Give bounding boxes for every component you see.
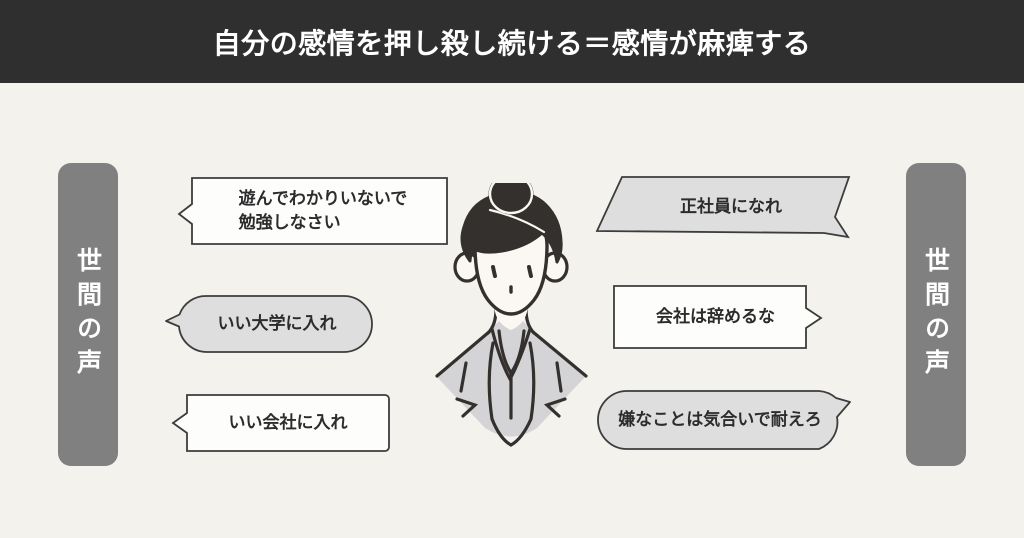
speech-bubble-left-2: いい大学に入れ	[165, 295, 373, 353]
speech-bubble-left-1-text: 遊んでわかりいないで 勉強しなさい	[239, 187, 408, 235]
page-title: 自分の感情を押し殺し続ける＝感情が麻痺する	[0, 0, 1024, 83]
character-illustration	[430, 183, 592, 458]
side-label-left-text: 世間の声	[76, 247, 101, 383]
header-bar: 自分の感情を押し殺し続ける＝感情が麻痺する	[0, 0, 1024, 83]
speech-bubble-right-3: 嫌なことは気合いで耐えろ	[597, 390, 851, 450]
eye-right	[529, 267, 531, 276]
speech-bubble-left-3: いい会社に入れ	[172, 394, 390, 452]
eye-left	[493, 267, 495, 276]
speech-bubble-left-2-text: いい大学に入れ	[218, 312, 337, 336]
speech-bubble-right-1: 正社員になれ	[596, 176, 852, 238]
side-label-right-text: 世間の声	[924, 247, 949, 383]
content-stage: 世間の声 世間の声 遊んでわかりいないで 勉強しなさい いい大学に入れ いい会社…	[0, 83, 1024, 538]
woman-illustration-svg	[430, 183, 592, 458]
speech-bubble-left-1: 遊んでわかりいないで 勉強しなさい	[178, 177, 448, 245]
speech-bubble-right-1-text: 正社員になれ	[680, 195, 782, 219]
side-label-right: 世間の声	[906, 163, 966, 466]
side-label-left: 世間の声	[58, 163, 118, 466]
speech-bubble-left-3-text: いい会社に入れ	[229, 411, 348, 435]
speech-bubble-right-2-text: 会社は辞めるな	[656, 305, 775, 329]
speech-bubble-right-2: 会社は辞めるな	[613, 285, 822, 349]
speech-bubble-right-3-text: 嫌なことは気合いで耐えろ	[618, 408, 822, 432]
